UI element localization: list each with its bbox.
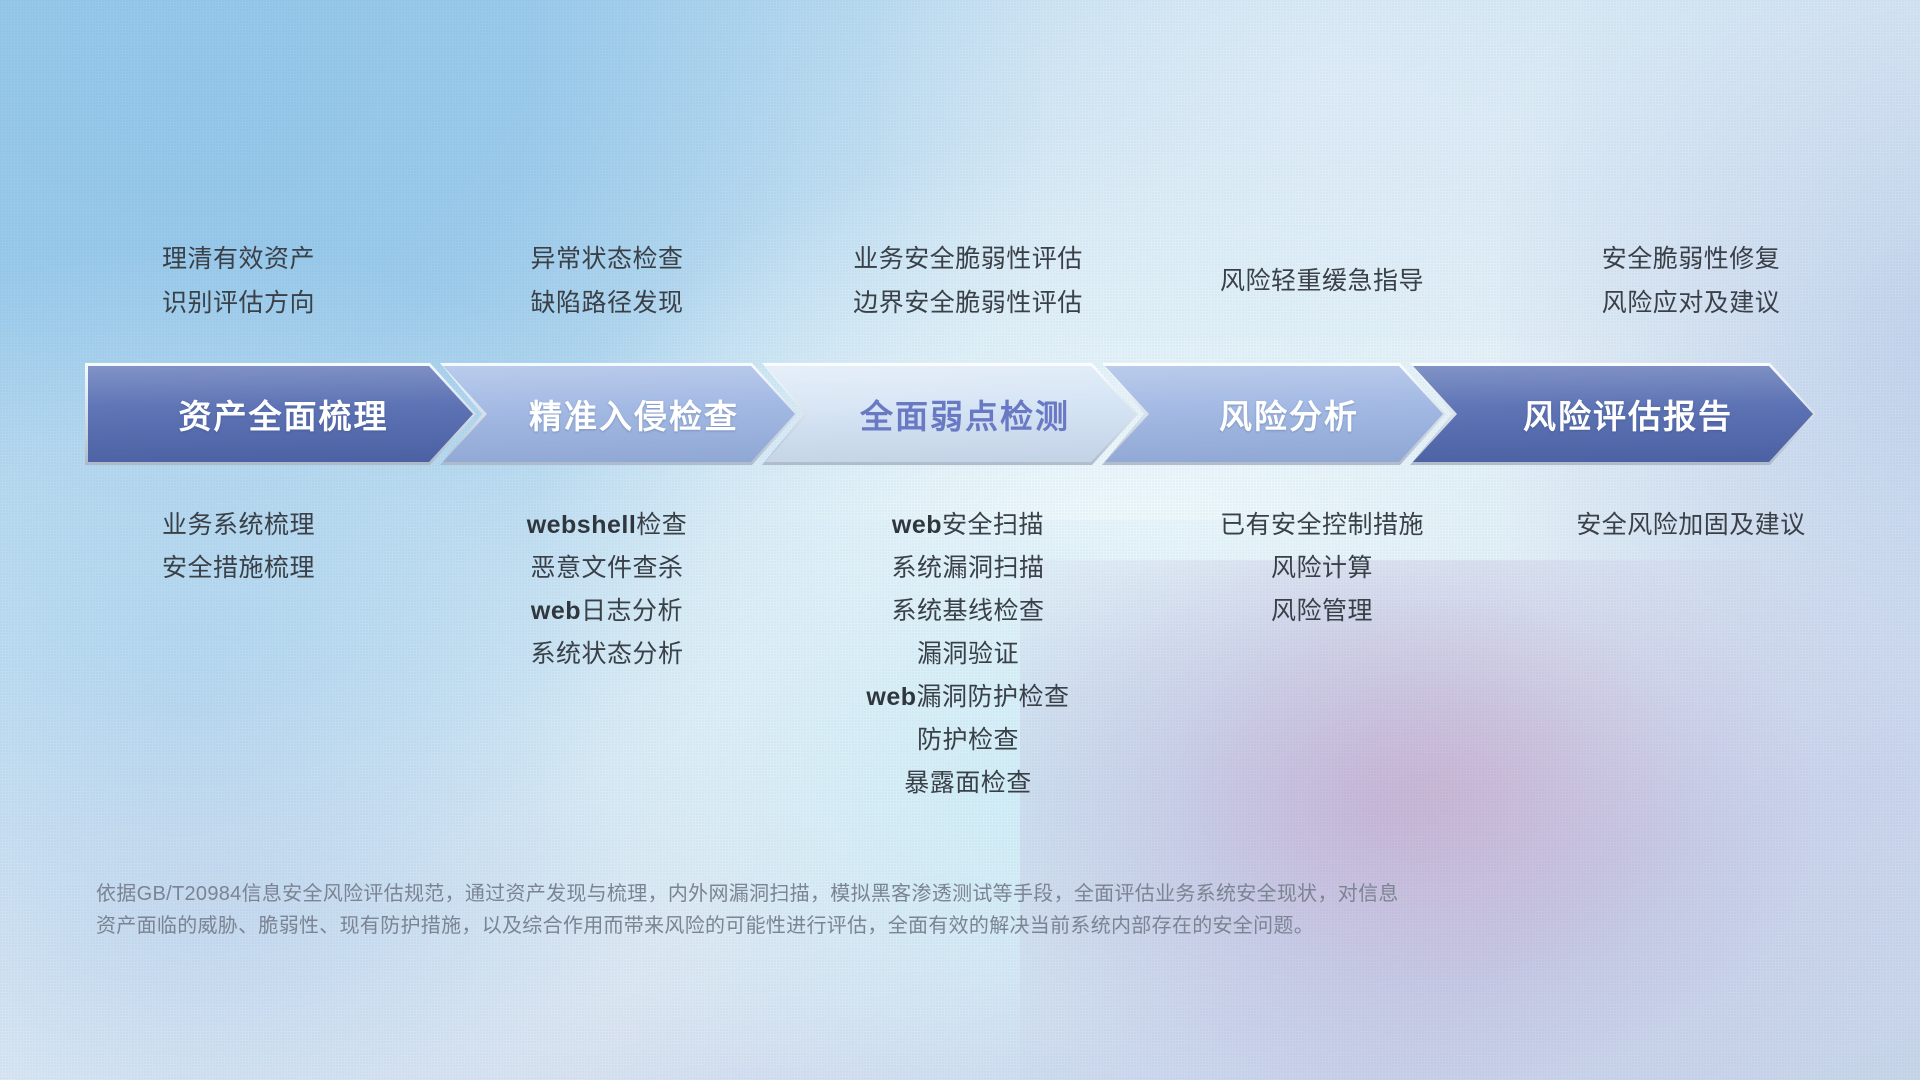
process-diagram: 理清有效资产识别评估方向 异常状态检查缺陷路径发现 业务安全脆弱性评估边界安全脆… — [0, 0, 1920, 1080]
bottom-item: 业务系统梳理 — [162, 513, 315, 538]
bottom-item-keyword: web — [866, 683, 916, 711]
bottom-item: web漏洞防护检查 — [866, 685, 1069, 710]
bottom-item: 暴露面检查 — [904, 771, 1032, 796]
bottom-column-risk-report: 安全风险加固及建议 — [1491, 500, 1909, 840]
chevron-step-weakness-detection[interactable]: 全面弱点检测 — [765, 366, 1135, 462]
top-item: 风险应对及建议 — [1602, 291, 1781, 316]
top-item: 风险轻重缓急指导 — [1220, 269, 1424, 294]
bottom-item-keyword: web — [531, 597, 581, 625]
chevron-label: 风险评估报告 — [1493, 390, 1733, 438]
footer-line-1: 依据GB/T20984信息安全风险评估规范，通过资产发现与梳理，内外网漏洞扫描，… — [96, 878, 1656, 910]
top-column-risk-report: 安全脆弱性修复风险应对及建议 — [1491, 222, 1909, 340]
chevron-label: 精准入侵检查 — [499, 390, 739, 438]
footer-description: 依据GB/T20984信息安全风险评估规范，通过资产发现与梳理，内外网漏洞扫描，… — [96, 878, 1656, 943]
top-column-risk-analysis: 风险轻重缓急指导 — [1153, 222, 1491, 340]
bottom-column-weakness-detection: web安全扫描系统漏洞扫描系统基线检查漏洞验证web漏洞防护检查防护检查暴露面检… — [783, 500, 1153, 840]
chevron-step-asset-inventory[interactable]: 资产全面梳理 — [88, 366, 473, 462]
chevron-label: 资产全面梳理 — [173, 390, 389, 438]
bottom-item: 风险管理 — [1271, 599, 1373, 624]
top-item: 理清有效资产 — [162, 247, 315, 272]
top-item: 安全脆弱性修复 — [1602, 247, 1781, 272]
bottom-item: 安全措施梳理 — [162, 556, 315, 581]
top-descriptor-row: 理清有效资产识别评估方向 异常状态检查缺陷路径发现 业务安全脆弱性评估边界安全脆… — [0, 222, 1920, 340]
bottom-item-keyword: webshell — [527, 511, 637, 539]
bottom-item: 安全风险加固及建议 — [1576, 513, 1806, 538]
bottom-item: 风险计算 — [1271, 556, 1373, 581]
chevron-step-risk-analysis[interactable]: 风险分析 — [1105, 366, 1443, 462]
bottom-column-asset-inventory: 业务系统梳理安全措施梳理 — [0, 500, 431, 840]
bottom-item: 防护检查 — [917, 728, 1019, 753]
footer-line-2: 资产面临的威胁、脆弱性、现有防护措施，以及综合作用而带来风险的可能性进行评估，全… — [96, 910, 1656, 942]
bottom-item: web日志分析 — [531, 599, 683, 624]
bottom-item: webshell检查 — [527, 513, 688, 538]
bottom-item: 系统漏洞扫描 — [891, 556, 1044, 581]
bottom-item-text: 漏洞防护检查 — [917, 683, 1070, 711]
bottom-item-text: 日志分析 — [581, 597, 683, 625]
top-item: 异常状态检查 — [530, 247, 683, 272]
top-column-intrusion-check: 异常状态检查缺陷路径发现 — [431, 222, 783, 340]
top-item: 业务安全脆弱性评估 — [853, 247, 1083, 272]
top-item: 缺陷路径发现 — [530, 291, 683, 316]
chevron-step-risk-report[interactable]: 风险评估报告 — [1413, 366, 1813, 462]
bottom-item: 系统状态分析 — [530, 642, 683, 667]
bottom-item-text: 安全扫描 — [942, 511, 1044, 539]
bottom-column-risk-analysis: 已有安全控制措施风险计算风险管理 — [1153, 500, 1491, 840]
bottom-item: web安全扫描 — [892, 513, 1044, 538]
chevron-step-intrusion-check[interactable]: 精准入侵检查 — [443, 366, 795, 462]
bottom-column-intrusion-check: webshell检查恶意文件查杀web日志分析系统状态分析 — [431, 500, 783, 840]
bottom-item: 已有安全控制措施 — [1220, 513, 1424, 538]
top-item: 识别评估方向 — [162, 291, 315, 316]
bottom-item-text: 检查 — [636, 511, 687, 539]
bottom-item: 恶意文件查杀 — [530, 556, 683, 581]
top-item: 边界安全脆弱性评估 — [853, 291, 1083, 316]
top-column-weakness-detection: 业务安全脆弱性评估边界安全脆弱性评估 — [783, 222, 1153, 340]
bottom-detail-row: 业务系统梳理安全措施梳理 webshell检查恶意文件查杀web日志分析系统状态… — [0, 500, 1920, 840]
chevron-label: 风险分析 — [1189, 390, 1359, 438]
bottom-item: 系统基线检查 — [891, 599, 1044, 624]
top-column-asset-inventory: 理清有效资产识别评估方向 — [0, 222, 431, 340]
bottom-item-keyword: web — [892, 511, 942, 539]
chevron-label: 全面弱点检测 — [830, 390, 1070, 438]
chevron-step-band: 资产全面梳理 精准入侵检查 全面弱点检测 风险分析 风险评估报告 — [88, 366, 1848, 462]
bottom-item: 漏洞验证 — [917, 642, 1019, 667]
